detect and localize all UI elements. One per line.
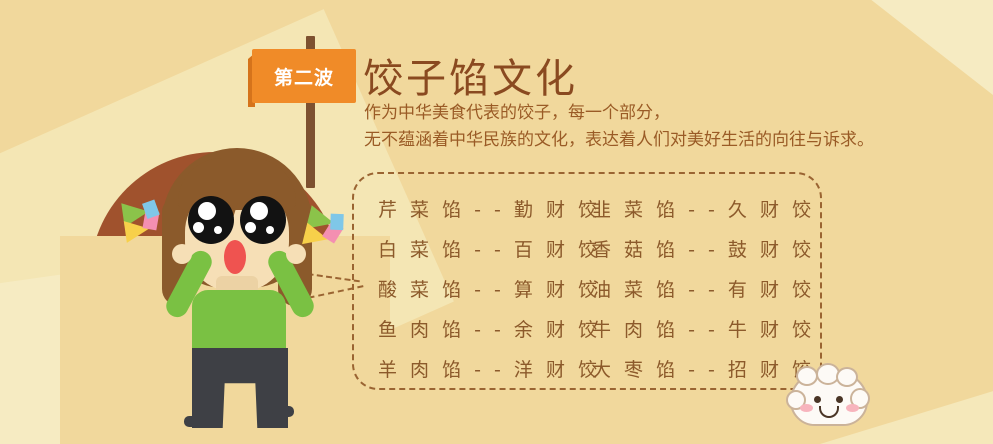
- right-hand-icon: [286, 244, 306, 264]
- list-item: 芹 菜 馅 - - 勤 财 饺 韭 菜 馅 - - 久 财 饺: [378, 190, 798, 230]
- dumpling-left-eye-icon: [814, 396, 821, 403]
- left-hand-icon: [172, 244, 192, 264]
- mouth-icon: [224, 240, 246, 274]
- dumpling-pleat-icon: [836, 367, 858, 387]
- eye-highlight-icon: [214, 226, 222, 234]
- page-subtitle: 作为中华美食代表的饺子，每一个部分， 无不蕴涵着中华民族的文化，表达着人们对美好…: [364, 100, 874, 154]
- list-item: 鱼 肉 馅 - - 余 财 饺 牛 肉 馅 - - 牛 财 饺: [378, 310, 798, 350]
- right-foot-icon: [272, 406, 294, 417]
- list-item: 羊 肉 馅 - - 洋 财 饺 大 枣 馅 - - 招 财 饺: [378, 350, 798, 390]
- filling-entry-left: 芹 菜 馅 - - 勤 财 饺: [378, 190, 574, 230]
- dumpling-mascot: [786, 364, 872, 434]
- dumpling-blush-left-icon: [800, 404, 813, 412]
- list-item: 酸 菜 馅 - - 算 财 饺 油 菜 馅 - - 有 财 饺: [378, 270, 798, 310]
- girl-illustration: [140, 148, 340, 380]
- filling-list: 芹 菜 馅 - - 勤 财 饺 韭 菜 馅 - - 久 财 饺 白 菜 馅 - …: [378, 190, 798, 390]
- filling-entry-right: 香 菇 馅 - - 鼓 财 饺: [592, 230, 788, 270]
- pinwheel-blade-icon: [330, 214, 344, 230]
- eye-highlight-icon: [245, 222, 256, 233]
- right-eye-icon: [240, 196, 286, 244]
- page-title: 饺子馅文化: [363, 46, 578, 104]
- eye-highlight-icon: [250, 202, 268, 220]
- filling-entry-right: 油 菜 馅 - - 有 财 饺: [592, 270, 788, 310]
- subtitle-line-2: 无不蕴涵着中华民族的文化，表达着人们对美好生活的向往与诉求。: [364, 127, 874, 154]
- eye-highlight-icon: [198, 202, 216, 220]
- eye-highlight-icon: [193, 222, 204, 233]
- filling-entry-right: 牛 肉 馅 - - 牛 财 饺: [592, 310, 788, 350]
- section-banner: 第二波: [252, 49, 356, 103]
- infographic-canvas: 第二波 饺子馅文化 作为中华美食代表的饺子，每一个部分， 无不蕴涵着中华民族的文…: [0, 0, 993, 444]
- list-item: 白 菜 馅 - - 百 财 饺 香 菇 馅 - - 鼓 财 饺: [378, 230, 798, 270]
- left-foot-icon: [184, 416, 206, 427]
- filling-entry-left: 鱼 肉 馅 - - 余 财 饺: [378, 310, 574, 350]
- subtitle-line-1: 作为中华美食代表的饺子，每一个部分，: [364, 100, 874, 127]
- dumpling-right-eye-icon: [836, 396, 843, 403]
- dumpling-pleat-icon: [796, 366, 818, 386]
- pinwheel-left-icon: [121, 197, 170, 245]
- filling-entry-right: 大 枣 馅 - - 招 财 饺: [592, 350, 788, 390]
- eye-highlight-icon: [266, 226, 274, 234]
- filling-entry-left: 羊 肉 馅 - - 洋 财 饺: [378, 350, 574, 390]
- banner-label: 第二波: [274, 63, 334, 90]
- filling-entry-left: 酸 菜 馅 - - 算 财 饺: [378, 270, 574, 310]
- dumpling-blush-right-icon: [846, 404, 859, 412]
- filling-entry-right: 韭 菜 馅 - - 久 财 饺: [592, 190, 788, 230]
- filling-entry-left: 白 菜 馅 - - 百 财 饺: [378, 230, 574, 270]
- left-eye-icon: [188, 196, 234, 244]
